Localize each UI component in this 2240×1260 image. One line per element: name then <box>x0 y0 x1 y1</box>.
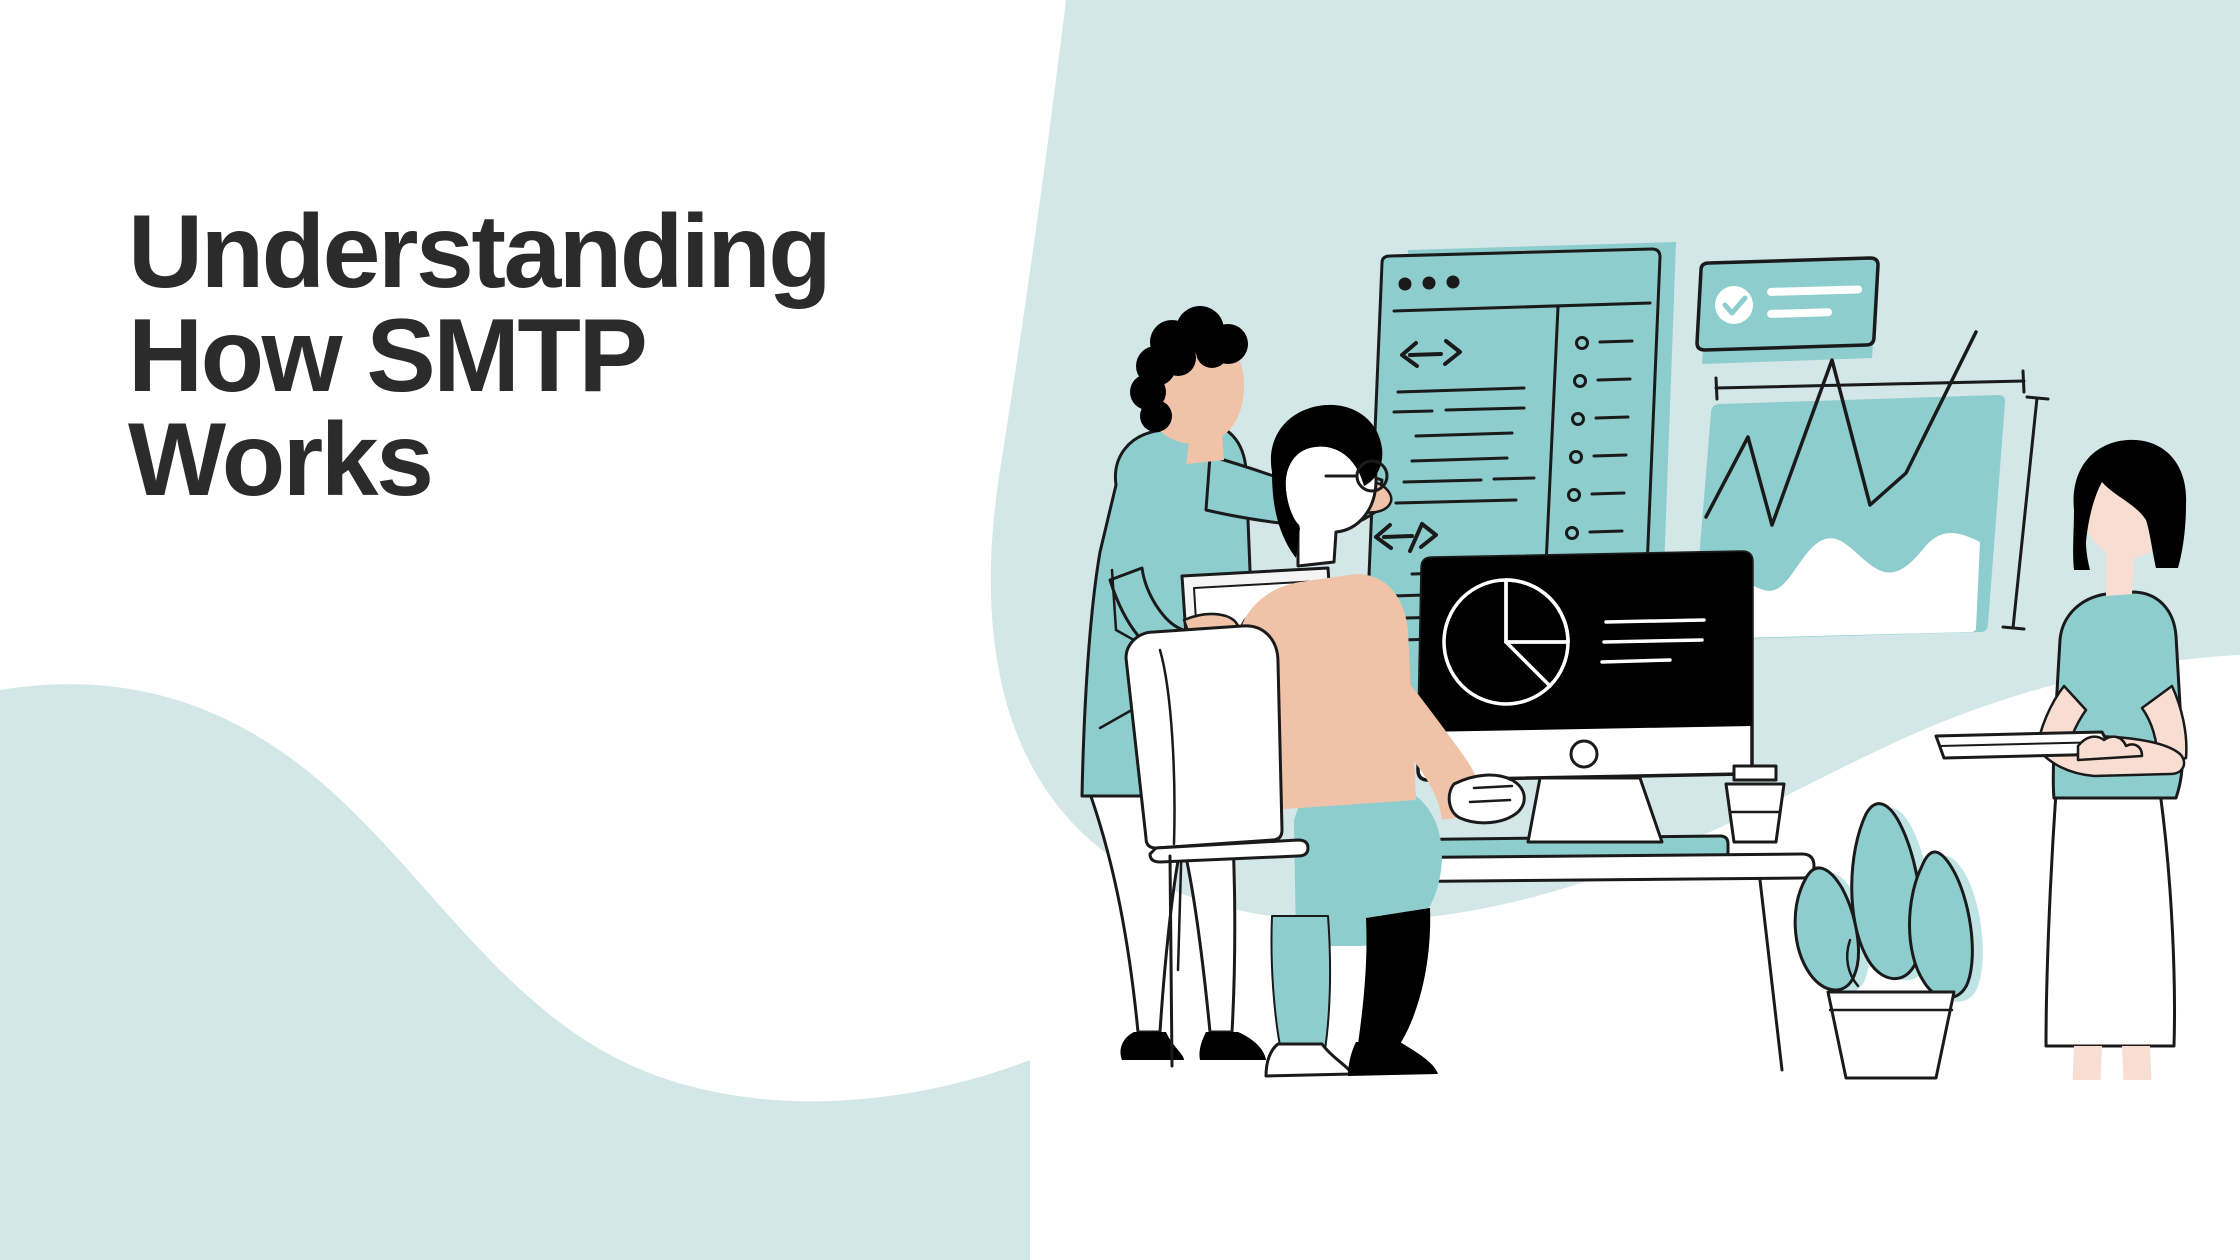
monitor-stand <box>1528 778 1662 842</box>
office-chair-back <box>1126 626 1282 848</box>
page-title: Understanding How SMTP Works <box>128 200 1068 512</box>
serving-person-skirt <box>2046 792 2174 1046</box>
success-notification-card[interactable] <box>1697 258 1878 364</box>
measure-bracket-top <box>1716 371 2024 399</box>
cactus-leaves <box>1795 804 1972 998</box>
standing-person-shoe-left <box>1121 1032 1185 1060</box>
standing-person-shoe-right <box>1199 1032 1266 1060</box>
coffee-cup <box>1726 766 1784 842</box>
seated-person-shoe-white <box>1266 1044 1352 1076</box>
office-team-analytics-illustration <box>1060 180 2200 1080</box>
measure-bracket-right <box>2003 397 2048 629</box>
monitor-screen <box>1419 552 1752 732</box>
plant-pot <box>1828 992 1954 1078</box>
potted-cactus-plant <box>1795 804 1983 1078</box>
hero-title-block: Understanding How SMTP Works <box>128 200 1068 512</box>
check-circle-icon <box>1715 286 1753 324</box>
hero-banner: Understanding How SMTP Works <box>0 0 2240 1260</box>
desk-leg <box>1760 880 1782 1070</box>
seated-person-leg-left <box>1271 916 1330 1056</box>
monitor-home-icon <box>1571 741 1597 767</box>
seated-person-shoe-black <box>1348 1042 1438 1076</box>
standing-person-neck <box>1186 431 1224 464</box>
office-chair-post <box>1170 856 1172 1066</box>
serving-person-leg-left <box>2072 1046 2102 1080</box>
seated-person-leg-right <box>1358 908 1430 1044</box>
serving-person-leg-right <box>2122 1046 2152 1080</box>
seated-person-hand[interactable] <box>1449 775 1524 823</box>
